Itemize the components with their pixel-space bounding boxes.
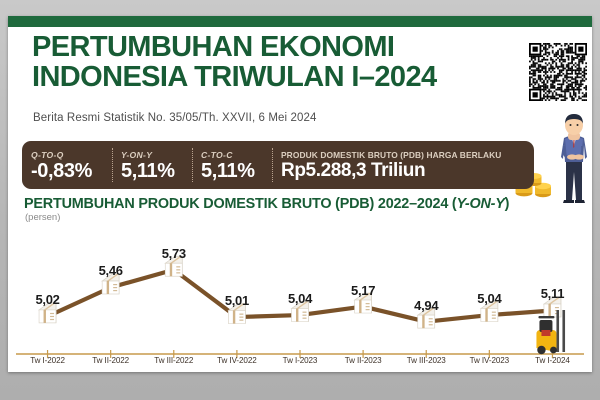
chart-x-tick-label: Tw IV-2022 bbox=[205, 356, 268, 372]
page-subtitle: Berita Resmi Statistik No. 35/05/Th. XXV… bbox=[33, 112, 316, 124]
chart-title-tail: ) bbox=[505, 196, 510, 212]
chart-value-label: 5,02 bbox=[35, 292, 59, 307]
stat-qtoq-value: -0,83% bbox=[31, 161, 103, 181]
chart-value-label: 5,01 bbox=[225, 293, 249, 308]
chart-title-emphasis: Y-ON-Y bbox=[457, 196, 505, 212]
chart-title: PERTUMBUHAN PRODUK DOMESTIK BRUTO (PDB) … bbox=[24, 196, 509, 212]
stat-yony: Y-ON-Y 5,11% bbox=[112, 141, 192, 189]
page-title-line1: PERTUMBUHAN EKONOMI bbox=[32, 31, 394, 63]
stat-ctoc-label: C-TO-C bbox=[201, 150, 263, 160]
stat-pdb-value: Rp5.288,3 Triliun bbox=[281, 161, 525, 180]
chart-x-tick-label: Tw III-2022 bbox=[142, 356, 205, 372]
chart-value-label: 5,73 bbox=[162, 246, 186, 261]
chart-value-label: 5,04 bbox=[288, 291, 312, 306]
qr-code-icon[interactable] bbox=[527, 41, 589, 103]
chart-value-label: 5,17 bbox=[351, 283, 375, 298]
stat-bar: Q-TO-Q -0,83% Y-ON-Y 5,11% C-TO-C 5,11% … bbox=[22, 141, 534, 189]
chart-x-tick-label: Tw II-2022 bbox=[79, 356, 142, 372]
chart-value-label: 5,46 bbox=[99, 263, 123, 278]
chart-value-label: 5,11 bbox=[541, 286, 564, 301]
chart-x-tick-label: Tw I-2022 bbox=[16, 356, 79, 372]
poster-root: PERTUMBUHAN EKONOMI INDONESIA TRIWULAN I… bbox=[0, 0, 600, 400]
chart-x-tick-label: Tw I-2024 bbox=[521, 356, 584, 372]
chart-x-axis-labels: Tw I-2022Tw II-2022Tw III-2022Tw IV-2022… bbox=[16, 356, 584, 372]
chart-title-main: PERTUMBUHAN PRODUK DOMESTIK BRUTO (PDB) … bbox=[24, 196, 457, 212]
page-title-line2: INDONESIA TRIWULAN I–2024 bbox=[32, 62, 532, 92]
chart-x-tick-label: Tw IV-2023 bbox=[458, 356, 521, 372]
stat-qtoq: Q-TO-Q -0,83% bbox=[22, 141, 112, 189]
top-green-bar bbox=[8, 16, 592, 27]
chart-x-tick-label: Tw I-2023 bbox=[268, 356, 331, 372]
stat-yony-value: 5,11% bbox=[121, 161, 183, 181]
stat-ctoc: C-TO-C 5,11% bbox=[192, 141, 272, 189]
stat-pdb: PRODUK DOMESTIK BRUTO (PDB) HARGA BERLAK… bbox=[272, 141, 534, 189]
page-title: PERTUMBUHAN EKONOMI INDONESIA TRIWULAN I… bbox=[32, 32, 532, 92]
qr-code-canvas bbox=[529, 43, 587, 101]
stat-yony-label: Y-ON-Y bbox=[121, 150, 183, 160]
stat-qtoq-label: Q-TO-Q bbox=[31, 150, 103, 160]
chart-value-label: 4,94 bbox=[414, 298, 438, 313]
businessman-illustration bbox=[548, 112, 592, 204]
chart-value-label: 5,04 bbox=[477, 291, 501, 306]
chart-x-tick-label: Tw III-2023 bbox=[395, 356, 458, 372]
chart-x-tick-label: Tw II-2023 bbox=[332, 356, 395, 372]
stat-pdb-label: PRODUK DOMESTIK BRUTO (PDB) HARGA BERLAK… bbox=[281, 150, 525, 160]
stat-ctoc-value: 5,11% bbox=[201, 161, 263, 181]
poster-card: PERTUMBUHAN EKONOMI INDONESIA TRIWULAN I… bbox=[8, 16, 592, 372]
